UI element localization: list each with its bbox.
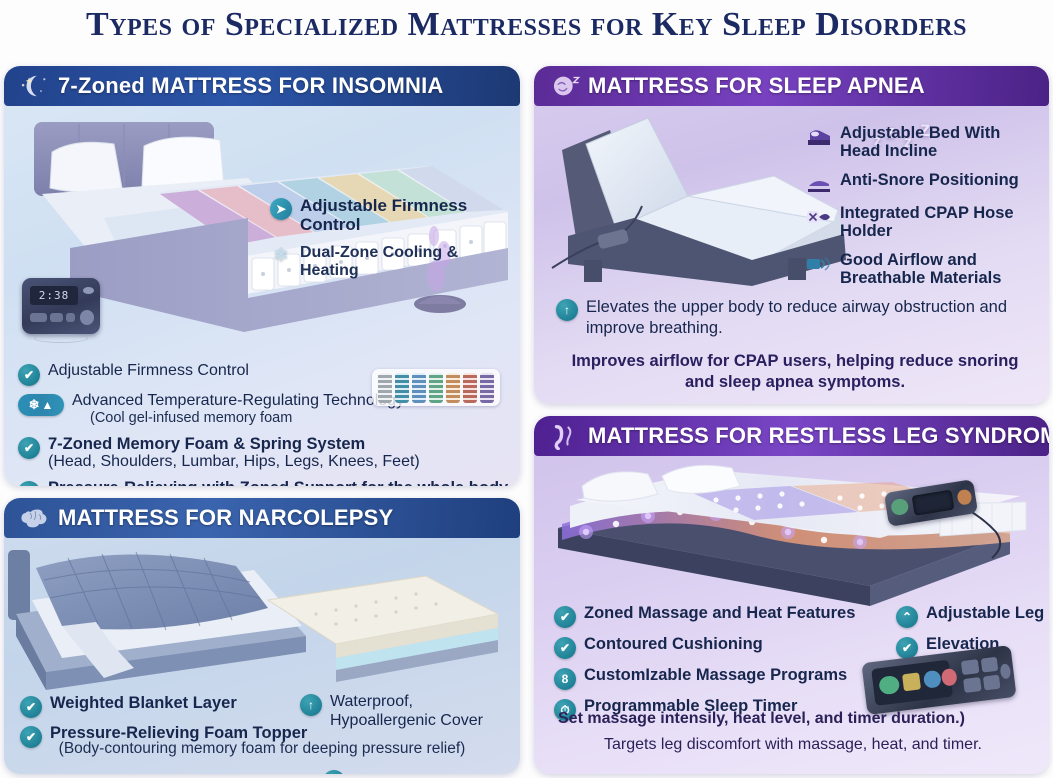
clock-stand (34, 334, 88, 343)
remote-key-1 (961, 660, 979, 675)
remote-screen (912, 490, 954, 516)
coil-zone-4 (429, 373, 443, 403)
card-restless-leg-syndrome: MATTRESS FOR RESTLESS LEG SYNDROME (534, 416, 1049, 774)
bullet-label: Waterproof, Hypoallergenic Cover (330, 692, 520, 730)
bullet-label: Zoned Massage and Heat Features (584, 604, 855, 622)
coil-zone-6 (463, 373, 477, 403)
coil-zone-1 (378, 373, 392, 403)
rls-footnote-1: Set massage intensily, heat level, and t… (558, 710, 1028, 728)
bullet-waterproof-cover: ↑ Waterproof, Hypoallergenic Cover (300, 692, 520, 730)
insomnia-image-callouts: ➤ Adjustable Firmness Control ❄ Dual-Zon… (270, 196, 520, 280)
bullet-weighted-blanket: ✔ Weighted Blanket Layer (20, 694, 340, 718)
narcolepsy-bottom-row: Built-In Alarm With Gentle Vibrations ] … (4, 770, 520, 774)
apnea-image-callouts: Adjustable Bed With Head Incline Anti-Sn… (806, 124, 1044, 288)
bullet-label: Adjustable Firmness Control (48, 362, 249, 380)
bullet-sub: (Head, Shoulders, Lumbar, Hips, Legs, Kn… (48, 453, 420, 471)
card-insomnia-title: 7-Zoned MATTRESS FOR INSOMNIA (58, 73, 444, 99)
callout-adjustable-firmness: ➤ Adjustable Firmness Control (270, 196, 520, 234)
anti-snore-icon (806, 174, 832, 194)
callout-label: Adjustable Firmness Control (300, 196, 520, 234)
apnea-footnote: Improves airflow for CPAP users, helping… (570, 351, 1020, 394)
clock-display: 2:38 (30, 286, 78, 305)
adjustable-bed-icon (806, 127, 832, 147)
remote-icon-2 (902, 672, 921, 692)
bullet-label: Elevates the upper body to reduce airway… (586, 297, 1026, 338)
remote-key-4 (982, 675, 1000, 690)
clock-button-3 (66, 313, 75, 322)
clock-button-2 (50, 313, 62, 322)
callout-label: Anti-Snore Positioning (840, 171, 1019, 189)
safety-alert-label: Safety Alert System (349, 772, 503, 774)
coil-zones-thumbnail (372, 369, 500, 406)
check-icon: ✔ (18, 364, 40, 386)
bullet-label: Pressure-Relieving with Zoned Support fo… (48, 479, 508, 486)
card-apnea-header: MATTRESS FOR SLEEP APNEA (534, 66, 1049, 106)
bullet-contoured-cushioning: ✔ Contoured Cushioning (554, 635, 874, 659)
bullet-elevates-upper-body: ↑ Elevates the upper body to reduce airw… (556, 297, 1026, 338)
bullet-pressure-relieving: ✔ Pressure-Relieving with Zoned Support … (18, 479, 512, 486)
rls-bullets-left: ✔ Zoned Massage and Heat Features ✔ Cont… (554, 604, 874, 721)
bullet-label: Advanced Temperature-Regulating Technolo… (72, 392, 404, 410)
callout-label: Dual-Zone Cooling & Heating (300, 244, 520, 280)
crescent-moon-stars-icon (18, 72, 52, 100)
remote-key-2 (980, 657, 998, 672)
clock-button-1 (30, 313, 47, 322)
remote-knob (956, 489, 972, 507)
massage-programs-icon: 8 (554, 668, 576, 690)
card-rls-header: MATTRESS FOR RESTLESS LEG SYNDROME (534, 416, 1049, 456)
bullet-label: Adjustable Leg (926, 604, 1044, 622)
callout-dual-zone: ❄ Dual-Zone Cooling & Heating (270, 244, 520, 280)
check-icon: ✔ (20, 696, 42, 718)
brain-icon (18, 504, 52, 532)
card-rls-title: MATTRESS FOR RESTLESS LEG SYNDROME (588, 423, 1049, 449)
check-icon: ✔ (18, 481, 40, 486)
coil-zone-7 (480, 373, 494, 403)
remote-dial (890, 498, 909, 517)
sleeping-face-icon (548, 72, 582, 100)
card-narcolepsy-header: MATTRESS FOR NARCOLEPSY (4, 498, 520, 538)
rls-footnote-2: Targets leg discomfort with massage, hea… (558, 736, 1028, 754)
arrow-right-firmness-icon: ➤ (270, 198, 292, 220)
bullet-label: Weighted Blanket Layer (50, 694, 237, 712)
bullet-7-zoned-system: ✔ 7-Zoned Memory Foam & Spring System (H… (18, 435, 512, 471)
callout-airflow: Good Airflow and Breathable Materials (806, 251, 1044, 288)
coil-zone-5 (446, 373, 460, 403)
bullet-label: CustomIzable Massage Programs (584, 666, 847, 684)
card-apnea-title: MATTRESS FOR SLEEP APNEA (588, 73, 925, 99)
coil-zone-2 (395, 373, 409, 403)
callout-anti-snore: Anti-Snore Positioning (806, 171, 1044, 194)
coil-zone-3 (412, 373, 426, 403)
alarm-clock-illustration: 2:38 (22, 278, 100, 334)
massage-remote-illustration (861, 645, 1016, 715)
callout-adjustable-bed: Adjustable Bed With Head Incline (806, 124, 1044, 161)
narcolepsy-sub-note: (Body-contouring memory foam for deeping… (4, 740, 520, 758)
remote-power-key (999, 663, 1011, 680)
built-in-alarm-label: Built-In Alarm With Gentle Vibrations ] (20, 772, 319, 774)
infographic-root: Types of Specialized Mattresses for Key … (0, 0, 1053, 778)
up-arrow-icon: ↑ (300, 694, 322, 716)
cpap-hose-icon (806, 207, 832, 227)
check-icon: ✔ (554, 606, 576, 628)
clock-dial (80, 310, 94, 325)
callout-cpap-hose: Integrated CPAP Hose Holder (806, 204, 1044, 241)
remote-key-3 (963, 677, 981, 692)
bullet-adjustable-leg: ⌃ Adjustable Leg (896, 604, 1046, 628)
bullet-customizable-programs: 8 CustomIzable Massage Programs (554, 666, 874, 690)
snowflake-icon: ❄ (270, 244, 292, 266)
check-icon: ✔ (18, 437, 40, 459)
callout-label: Good Airflow and Breathable Materials (840, 251, 1001, 288)
check-icon: ✔ (554, 637, 576, 659)
card-sleep-apnea: MATTRESS FOR SLEEP APNEA (534, 66, 1049, 404)
up-arrow-icon: ↑ (556, 299, 578, 321)
airflow-icon (806, 254, 832, 274)
check-icon: ✔ (323, 770, 345, 774)
bullet-zoned-massage: ✔ Zoned Massage and Heat Features (554, 604, 874, 628)
bullet-sub: (Cool gel-infused memory foam (90, 410, 404, 427)
callout-label: Integrated CPAP Hose Holder (840, 204, 1044, 241)
page-title: Types of Specialized Mattresses for Key … (0, 6, 1053, 44)
leg-elevation-icon: ⌃ (896, 606, 918, 628)
bullet-label: 7-Zoned Memory Foam & Spring System (48, 435, 420, 453)
card-insomnia: 7-Zoned MATTRESS FOR INSOMNIA (4, 66, 520, 486)
massage-remote-on-bed (884, 479, 978, 527)
leg-icon (548, 422, 582, 450)
snowflake-flame-pill-icon: ❄▲ (18, 394, 64, 416)
card-insomnia-header: 7-Zoned MATTRESS FOR INSOMNIA (4, 66, 520, 106)
clock-led (83, 287, 94, 294)
card-narcolepsy-title: MATTRESS FOR NARCOLEPSY (58, 505, 393, 531)
callout-label: Adjustable Bed With Head Incline (840, 124, 1000, 161)
card-narcolepsy: MATTRESS FOR NARCOLEPSY (4, 498, 520, 774)
bullet-label: Contoured Cushioning (584, 635, 763, 653)
weighted-blanket-bed-illustration (6, 540, 520, 695)
